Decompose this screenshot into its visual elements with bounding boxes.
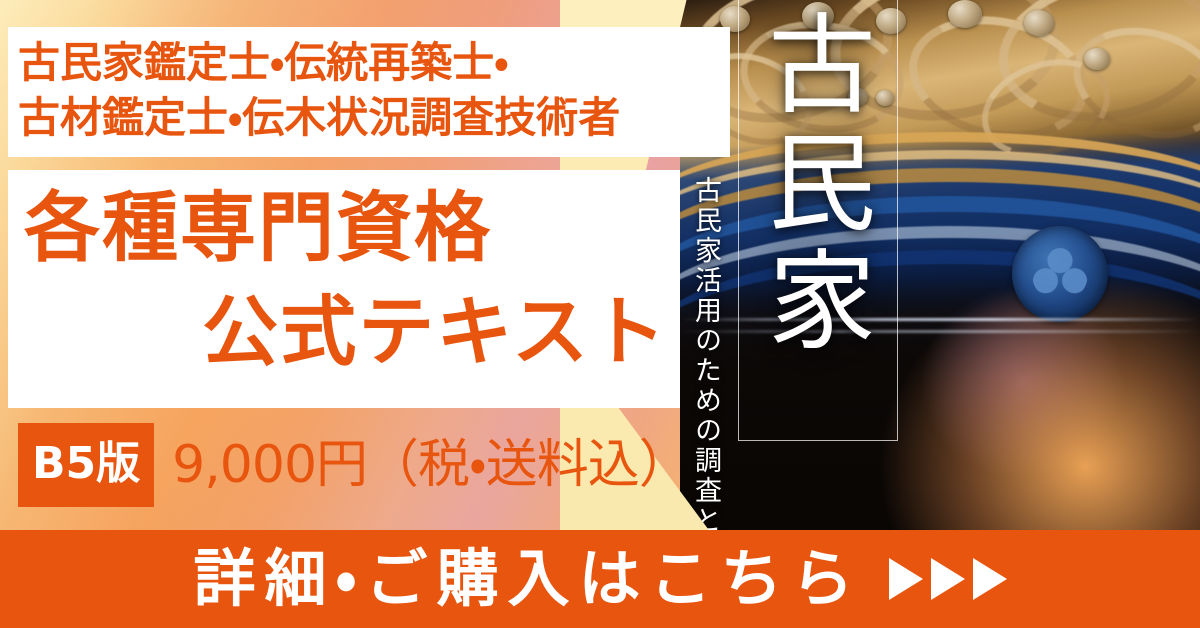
chevron-right-icon (889, 558, 923, 600)
carving-knob (948, 0, 982, 28)
headline-line-2: 公式テキスト (8, 280, 676, 384)
carving-knob (1024, 10, 1054, 36)
family-crest-medallion-icon (1012, 226, 1108, 322)
chevron-right-icon (973, 558, 1007, 600)
qualification-list: 古民家鑑定士・伝統再築士・ 古材鑑定士・伝木状況調査技術者 (18, 36, 620, 145)
format-badge: B5版 (18, 423, 154, 507)
headline: 各種専門資格 公式テキスト (8, 176, 676, 384)
book-cover-image: 古民家 伝統構法、古民家活用のための調査と再生の (680, 0, 1200, 530)
carving-knob (1084, 48, 1110, 70)
qualification-line-1: 古民家鑑定士・伝統再築士・ (18, 36, 620, 91)
price-amount: 9,000円（税・送料込） (172, 439, 690, 491)
headline-line-1: 各種専門資格 (8, 176, 676, 280)
cta-arrows (889, 558, 1007, 600)
cta-button[interactable]: 詳細・ご購入はこちら (0, 530, 1200, 628)
promo-banner: 古民家 伝統構法、古民家活用のための調査と再生の 古民家鑑定士・伝統再築士・ 古… (0, 0, 1200, 628)
cta-label: 詳細・ご購入はこちら (193, 548, 862, 610)
price-row: B5版 9,000円（税・送料込） (18, 423, 690, 507)
chevron-right-icon (931, 558, 965, 600)
qualification-line-2: 古材鑑定士・伝木状況調査技術者 (18, 91, 620, 146)
cover-title: 古民家 (756, 8, 876, 362)
